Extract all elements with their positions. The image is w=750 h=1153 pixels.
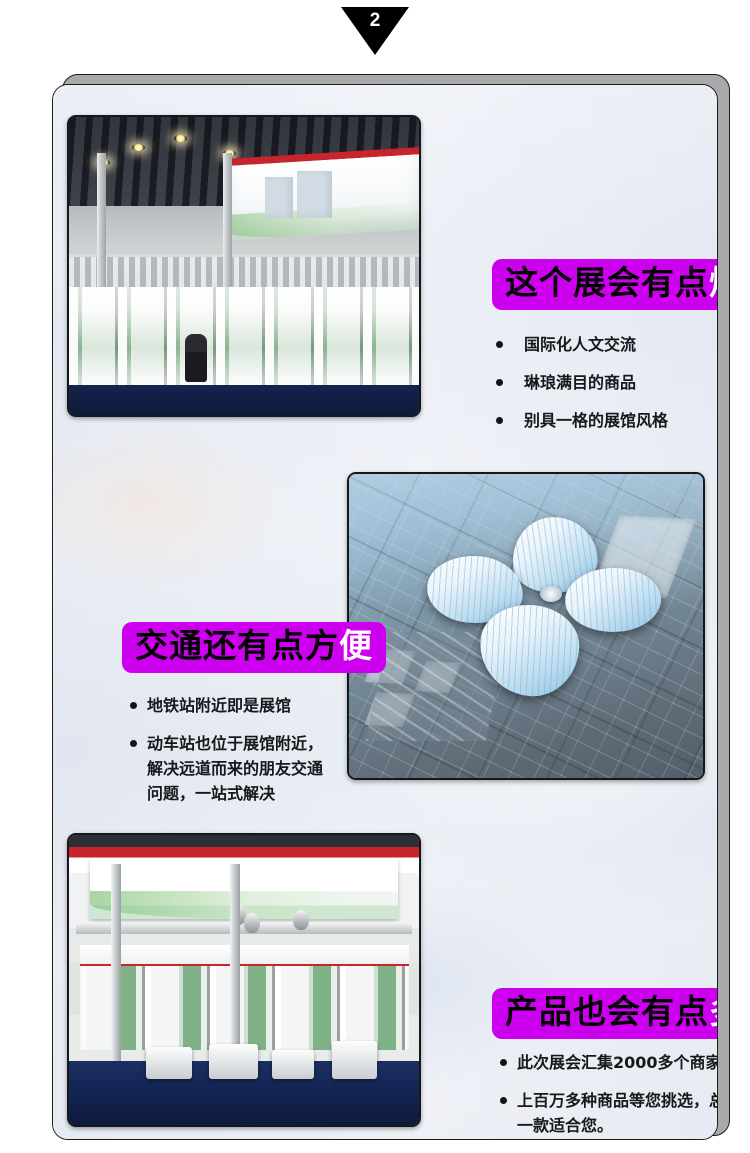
photo-booth-upper bbox=[67, 115, 421, 417]
heading-transport-main: 交通还有点方 bbox=[135, 626, 339, 665]
bullet-dot-icon bbox=[496, 341, 503, 348]
bullets-products: 此次展会汇集2000多个商家 上百万多种商品等您挑选，总有 一款适合您。 为期三… bbox=[500, 1050, 718, 1140]
list-item-label: 此次展会汇集2000多个商家 bbox=[517, 1050, 718, 1075]
ceiling-lamp bbox=[132, 144, 145, 151]
list-item: 地铁站附近即是展馆 bbox=[130, 693, 380, 718]
photo-expo-aerial bbox=[347, 472, 705, 780]
product-crate bbox=[146, 1047, 192, 1079]
product-crate bbox=[332, 1041, 378, 1079]
list-item-label: 琳琅满目的商品 bbox=[524, 370, 636, 395]
list-item: 国际化人文交流 bbox=[496, 332, 718, 357]
product-cabinets bbox=[80, 945, 409, 1049]
overhead-fixture bbox=[244, 913, 260, 933]
bullets-dazzling: 国际化人文交流 琳琅满目的商品 别具一格的展馆风格 bbox=[496, 332, 718, 446]
bullets-transport: 地铁站附近即是展馆 动车站也位于展馆附近， 解决远道而来的朋友交通 问题，一站式… bbox=[130, 693, 380, 819]
photo-expo-aerial-art bbox=[349, 474, 703, 778]
list-item-label: 地铁站附近即是展馆 bbox=[147, 693, 291, 718]
page-marker-area: 2 bbox=[0, 0, 750, 62]
product-crate bbox=[209, 1044, 258, 1079]
bullet-dot-icon bbox=[496, 379, 503, 386]
bullet-dot-icon bbox=[130, 702, 137, 709]
banner-building-graphic bbox=[265, 177, 293, 219]
bullet-dot-icon bbox=[500, 1059, 507, 1066]
ceiling-lamp bbox=[174, 135, 187, 142]
heading-dazzling-highlight: 炫 bbox=[709, 263, 718, 302]
list-item: 琳琅满目的商品 bbox=[496, 370, 718, 395]
photo-booth-lower-art bbox=[69, 835, 419, 1125]
heading-dazzling: 这个展会有点炫 bbox=[492, 259, 718, 310]
list-item: 动车站也位于展馆附近， 解决远道而来的朋友交通 问题，一站式解决 bbox=[130, 731, 380, 806]
list-item-label: 国际化人文交流 bbox=[524, 332, 636, 357]
bullet-dot-icon bbox=[496, 417, 503, 424]
structural-pillar bbox=[111, 864, 121, 1084]
page-marker-number: 2 bbox=[341, 9, 409, 33]
list-item: 上百万多种商品等您挑选，总有 一款适合您。 bbox=[500, 1088, 718, 1138]
list-item: 此次展会汇集2000多个商家 bbox=[500, 1050, 718, 1075]
content-card: 这个展会有点炫 国际化人文交流 琳琅满目的商品 别具一格的展馆风格 交通还有点方… bbox=[52, 84, 718, 1140]
list-item: 别具一格的展馆风格 bbox=[496, 408, 718, 433]
bullet-dot-icon bbox=[130, 740, 137, 747]
heading-transport: 交通还有点方便 bbox=[122, 622, 386, 673]
list-item-label: 动车站也位于展馆附近， 解决远道而来的朋友交通 问题，一站式解决 bbox=[147, 731, 323, 806]
page-marker: 2 bbox=[341, 7, 409, 55]
banner-building-graphic bbox=[297, 171, 332, 219]
photo-booth-upper-art bbox=[69, 117, 419, 415]
heading-products: 产品也会有点多 bbox=[492, 988, 718, 1039]
photo-booth-lower bbox=[67, 833, 421, 1127]
booth-display-row bbox=[69, 287, 419, 388]
heading-products-main: 产品也会有点 bbox=[505, 992, 709, 1031]
heading-transport-highlight: 便 bbox=[339, 626, 373, 665]
list-item-label: 别具一格的展馆风格 bbox=[524, 408, 668, 433]
overhead-fixture bbox=[293, 910, 309, 930]
heading-dazzling-main: 这个展会有点 bbox=[505, 263, 709, 302]
heading-products-highlight: 多 bbox=[709, 992, 718, 1031]
bullet-dot-icon bbox=[500, 1097, 507, 1104]
product-crate bbox=[272, 1050, 314, 1079]
floor-carpet bbox=[69, 385, 419, 415]
list-item-label: 上百万多种商品等您挑选，总有 一款适合您。 bbox=[517, 1088, 718, 1138]
visitor-figure bbox=[185, 334, 207, 382]
